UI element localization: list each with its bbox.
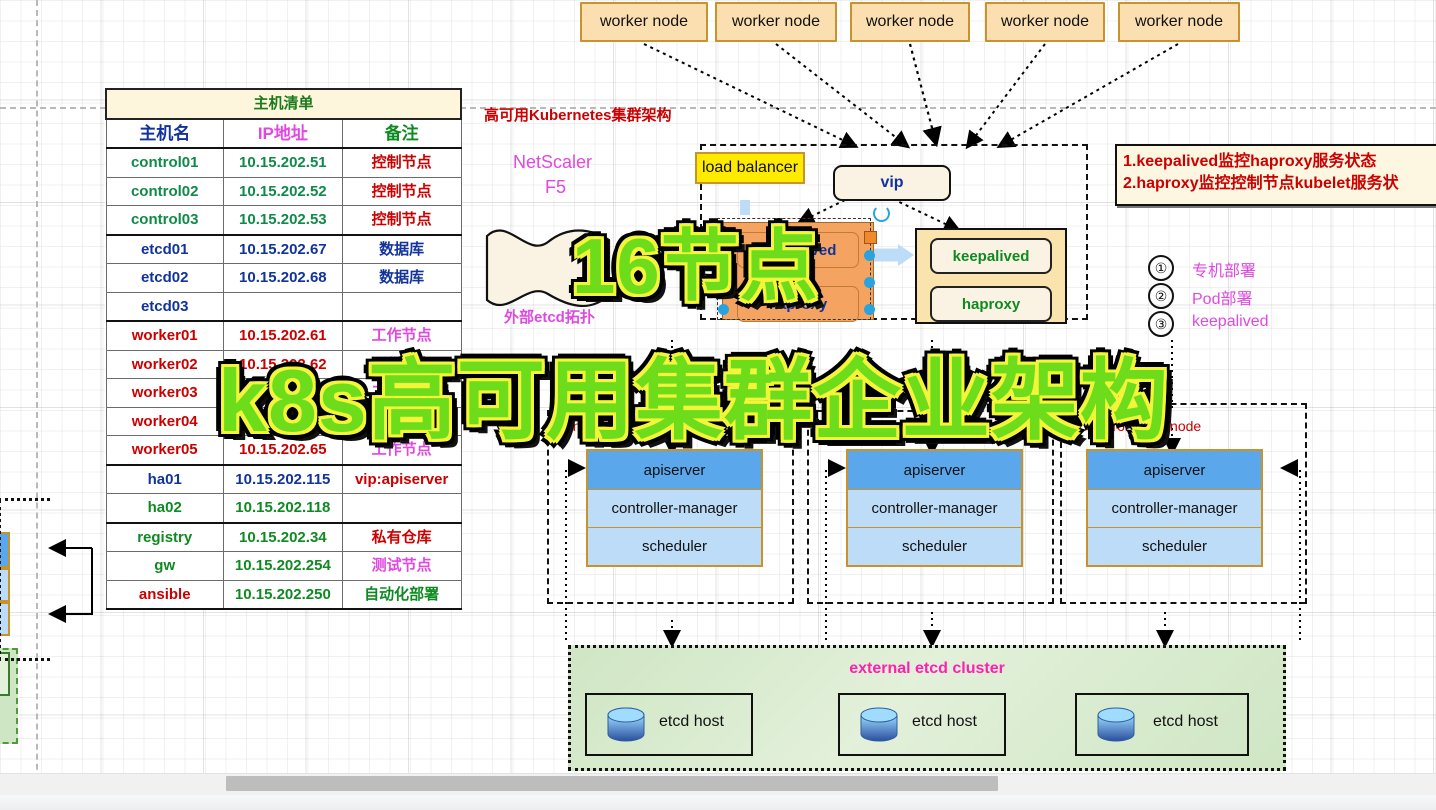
cell-ip[interactable]: 10.15.202.51 (223, 148, 342, 177)
table-row[interactable]: gw10.15.202.254测试节点 (106, 552, 461, 581)
offscreen-dotted-divider (0, 500, 1, 660)
database-icon (1095, 707, 1137, 743)
worker-node-4-label: worker node (1001, 13, 1089, 31)
control-plane-2-scheduler-label: scheduler (902, 538, 967, 555)
database-icon (605, 707, 647, 743)
offscreen-controller-fragment (0, 568, 10, 602)
table-row[interactable]: etcd0210.15.202.68数据库 (106, 264, 461, 293)
vip-box[interactable]: vip (833, 165, 951, 201)
cell-note[interactable]: 私有仓库 (342, 523, 461, 552)
control-plane-1-controller-manager[interactable]: controller-manager (588, 490, 761, 527)
control-plane-2-controller-manager-label: controller-manager (872, 500, 998, 517)
column-header-hostname: 主机名 (106, 119, 223, 149)
worker-node-1-label: worker node (600, 13, 688, 31)
control-plane-1-scheduler[interactable]: scheduler (588, 528, 761, 565)
cell-note[interactable]: 自动化部署 (342, 580, 461, 609)
column-header-note: 备注 (342, 119, 461, 149)
etcd-host-2[interactable]: etcd host (838, 693, 1006, 756)
control-plane-2-scheduler[interactable]: scheduler (848, 528, 1021, 565)
control-plane-node-2-stack[interactable]: apiserver controller-manager scheduler (846, 449, 1023, 567)
cell-note[interactable] (342, 494, 461, 523)
control-plane-node-1-stack[interactable]: apiserver controller-manager scheduler (586, 449, 763, 567)
overlay-title-line-2: k8s高可用集群企业架构 (218, 330, 1169, 457)
cell-ip[interactable]: 10.15.202.52 (223, 177, 342, 206)
table-row[interactable]: ansible10.15.202.250自动化部署 (106, 580, 461, 609)
worker-node-4[interactable]: worker node (985, 2, 1105, 42)
table-row[interactable]: control0110.15.202.51控制节点 (106, 148, 461, 177)
page-break-vertical (36, 0, 38, 810)
table-row[interactable]: registry10.15.202.34私有仓库 (106, 523, 461, 552)
worker-node-1[interactable]: worker node (580, 2, 708, 42)
cell-note[interactable]: vip:apiserver (342, 465, 461, 494)
cell-note[interactable]: 数据库 (342, 264, 461, 293)
table-row[interactable]: ha0210.15.202.118 (106, 494, 461, 523)
cell-hostname[interactable]: registry (106, 523, 223, 552)
cell-ip[interactable] (223, 292, 342, 321)
horizontal-scrollbar-thumb[interactable] (226, 776, 998, 791)
control-plane-3-scheduler[interactable]: scheduler (1088, 528, 1261, 565)
database-icon (858, 707, 900, 743)
host-table-caption: 主机清单 (106, 89, 461, 119)
cell-hostname[interactable]: worker03 (106, 379, 223, 408)
horizontal-scrollbar-track[interactable] (0, 773, 1436, 796)
cell-hostname[interactable]: control02 (106, 177, 223, 206)
cell-hostname[interactable]: worker01 (106, 321, 223, 350)
legend-text-3: keepalived (1192, 313, 1269, 331)
etcd-host-1-label: etcd host (659, 713, 724, 731)
cell-note[interactable]: 控制节点 (342, 148, 461, 177)
rotate-handle-icon[interactable] (873, 205, 890, 222)
cell-hostname[interactable]: control03 (106, 206, 223, 235)
selection-handle-right-top[interactable] (864, 250, 875, 261)
control-plane-3-controller-manager-label: controller-manager (1112, 500, 1238, 517)
offscreen-scheduler-fragment (0, 602, 10, 636)
cell-ip[interactable]: 10.15.202.118 (223, 494, 342, 523)
cell-hostname[interactable]: etcd02 (106, 264, 223, 293)
control-plane-1-scheduler-label: scheduler (642, 538, 707, 555)
selection-handle-right-middle[interactable] (864, 277, 875, 288)
haproxy-pill[interactable]: haproxy (930, 286, 1052, 322)
cell-ip[interactable]: 10.15.202.53 (223, 206, 342, 235)
etcd-host-3-label: etcd host (1153, 713, 1218, 731)
netscaler-label-line2: F5 (545, 177, 566, 198)
selection-handle-right-bottom[interactable] (864, 304, 875, 315)
control-plane-3-apiserver-label: apiserver (1144, 462, 1206, 479)
legend-text-1: 专机部署 (1192, 257, 1256, 281)
etcd-host-1[interactable]: etcd host (585, 693, 753, 756)
cell-ip[interactable]: 10.15.202.68 (223, 264, 342, 293)
external-etcd-cluster-title: external etcd cluster (571, 660, 1283, 678)
cell-hostname[interactable]: worker05 (106, 436, 223, 465)
worker-node-5-label: worker node (1135, 13, 1223, 31)
cell-note[interactable]: 控制节点 (342, 206, 461, 235)
worker-node-2[interactable]: worker node (715, 2, 837, 42)
note-line-1: 1.keepalived监控haproxy服务状态 (1123, 151, 1436, 173)
cell-ip[interactable]: 10.15.202.34 (223, 523, 342, 552)
keepalived-pill[interactable]: keepalived (930, 238, 1052, 274)
table-row[interactable]: ha0110.15.202.115vip:apiserver (106, 465, 461, 494)
keepalived-label: keepalived (953, 248, 1030, 265)
cell-note[interactable]: 测试节点 (342, 552, 461, 581)
overlay-title-line-1: 16节点 (572, 204, 819, 316)
table-row[interactable]: control0210.15.202.52控制节点 (106, 177, 461, 206)
table-row[interactable]: etcd0110.15.202.67数据库 (106, 235, 461, 264)
cell-ip[interactable]: 10.15.202.254 (223, 552, 342, 581)
below-fold-area (0, 795, 1436, 810)
legend-number-2: ② (1148, 283, 1174, 309)
table-row[interactable]: control0310.15.202.53控制节点 (106, 206, 461, 235)
cell-ip[interactable]: 10.15.202.115 (223, 465, 342, 494)
cell-note[interactable]: 控制节点 (342, 177, 461, 206)
load-balancer-box[interactable]: load balancer (695, 152, 805, 184)
legend-number-1: ① (1148, 255, 1174, 281)
column-header-ip: IP地址 (223, 119, 342, 149)
host-table-header-row: 主机名 IP地址 备注 (106, 119, 461, 149)
control-plane-node-3-stack[interactable]: apiserver controller-manager scheduler (1086, 449, 1263, 567)
cell-ip[interactable]: 10.15.202.67 (223, 235, 342, 264)
netscaler-label-line1: NetScaler (513, 152, 592, 173)
cell-hostname[interactable]: gw (106, 552, 223, 581)
canvas-stage: 主机清单 主机名 IP地址 备注 control0110.15.202.51控制… (0, 0, 1436, 810)
control-plane-1-apiserver-label: apiserver (644, 462, 706, 479)
control-plane-2-apiserver-label: apiserver (904, 462, 966, 479)
cell-hostname[interactable]: ha01 (106, 465, 223, 494)
note-line-2: 2.haproxy监控控制节点kubelet服务状 (1123, 173, 1436, 195)
offscreen-apiserver-fragment (0, 532, 10, 568)
cell-note[interactable]: 数据库 (342, 235, 461, 264)
cell-hostname[interactable]: ha02 (106, 494, 223, 523)
cell-hostname[interactable]: etcd03 (106, 292, 223, 321)
host-table-caption-row: 主机清单 (106, 89, 461, 119)
cell-note[interactable] (342, 292, 461, 321)
cell-hostname[interactable]: ansible (106, 580, 223, 609)
cell-hostname[interactable]: worker02 (106, 350, 223, 379)
load-balancer-label: load balancer (702, 159, 798, 177)
haproxy-label: haproxy (962, 296, 1020, 313)
worker-node-3[interactable]: worker node (850, 2, 970, 42)
cell-hostname[interactable]: control01 (106, 148, 223, 177)
vip-label: vip (880, 174, 903, 192)
cell-hostname[interactable]: worker04 (106, 407, 223, 436)
worker-node-2-label: worker node (732, 13, 820, 31)
offscreen-dotted-bottom (0, 658, 50, 661)
control-plane-2-controller-manager[interactable]: controller-manager (848, 490, 1021, 527)
control-plane-3-scheduler-label: scheduler (1142, 538, 1207, 555)
diagram-title-label: 高可用Kubernetes集群架构 (484, 104, 672, 125)
worker-node-3-label: worker node (866, 13, 954, 31)
control-plane-3-controller-manager[interactable]: controller-manager (1088, 490, 1261, 527)
etcd-host-3[interactable]: etcd host (1075, 693, 1249, 756)
etcd-host-2-label: etcd host (912, 713, 977, 731)
cell-hostname[interactable]: etcd01 (106, 235, 223, 264)
selection-handle-corner[interactable] (864, 231, 877, 244)
table-row[interactable]: etcd03 (106, 292, 461, 321)
legend-text-2: Pod部署 (1192, 285, 1252, 309)
cell-ip[interactable]: 10.15.202.250 (223, 580, 342, 609)
notes-box[interactable]: 1.keepalived监控haproxy服务状态 2.haproxy监控控制节… (1115, 144, 1436, 206)
control-plane-1-controller-manager-label: controller-manager (612, 500, 738, 517)
offscreen-dotted-top (0, 498, 50, 501)
worker-node-5[interactable]: worker node (1118, 2, 1240, 42)
